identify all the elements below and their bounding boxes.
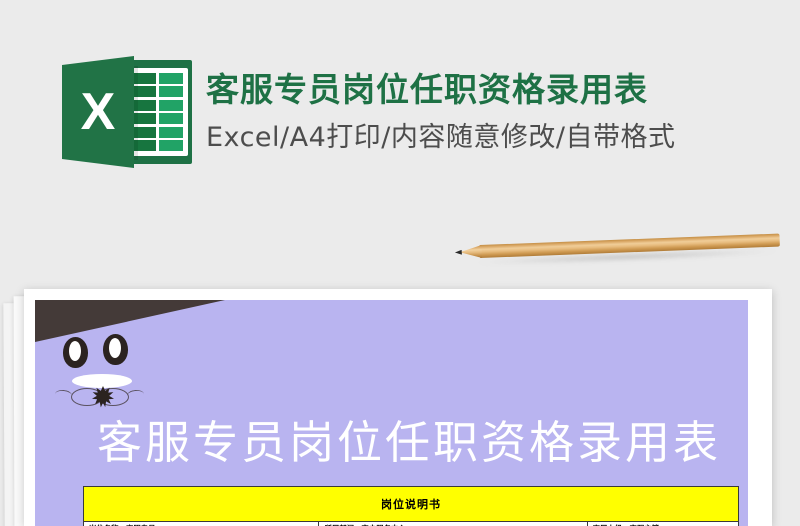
mascot-snout-icon: [72, 374, 132, 388]
table-header-row: 岗位说明书: [84, 487, 738, 522]
brand-text-block: 客服专员岗位任职资格录用表 Excel/A4打印/内容随意修改/自带格式: [206, 69, 675, 155]
excel-logo-letter: X: [62, 56, 134, 168]
job-description-table: 岗位说明书 岗位名称：客服专员 所属部门：客户服务中心 直属上级：客服主管 职级…: [83, 486, 739, 526]
screenshot-canvas: X 客服专员岗位任职资格录用表 Excel/A4打印/内容随意修改/自带格式: [0, 0, 800, 526]
page-title: 客服专员岗位任职资格录用表: [206, 69, 675, 110]
document-body: 客服专员岗位任职资格录用表 岗位说明书 岗位名称：客服专员 所属部门：客户服务中…: [35, 300, 748, 526]
document-title: 客服专员岗位任职资格录用表: [97, 406, 721, 471]
pencil-tip-wood: [460, 245, 482, 259]
table-header-label: 岗位说明书: [381, 496, 441, 512]
pencil-icon: [454, 227, 785, 270]
table-cell: 所属部门：客户服务中心: [319, 522, 587, 526]
banner-header: X 客服专员岗位任职资格录用表 Excel/A4打印/内容随意修改/自带格式: [0, 0, 800, 228]
paper-right-margin: [748, 289, 772, 526]
table-cell: 岗位名称：客服专员: [84, 522, 319, 526]
mascot-hair-icon: [35, 300, 225, 342]
mascot-eye-right-icon: [103, 334, 128, 365]
brand-row: X 客服专员岗位任职资格录用表 Excel/A4打印/内容随意修改/自带格式: [62, 56, 675, 168]
paper-sheet-front[interactable]: 客服专员岗位任职资格录用表 岗位说明书 岗位名称：客服专员 所属部门：客户服务中…: [24, 289, 772, 526]
mascot-eye-left-icon: [63, 337, 88, 368]
document-preview-stack[interactable]: 客服专员岗位任职资格录用表 岗位说明书 岗位名称：客服专员 所属部门：客户服务中…: [0, 285, 800, 526]
excel-logo-icon: X: [62, 56, 194, 168]
table-cell: 直属上级：客服主管: [588, 522, 738, 526]
page-subtitle: Excel/A4打印/内容随意修改/自带格式: [206, 120, 675, 155]
excel-logo-grid: [132, 73, 183, 151]
mascot-whisker-left-icon: [55, 389, 73, 401]
mascot-whisker-right-icon: [127, 389, 145, 401]
pencil-lead-tip: [455, 250, 462, 255]
table-row: 岗位名称：客服专员 所属部门：客户服务中心 直属上级：客服主管: [84, 522, 738, 526]
